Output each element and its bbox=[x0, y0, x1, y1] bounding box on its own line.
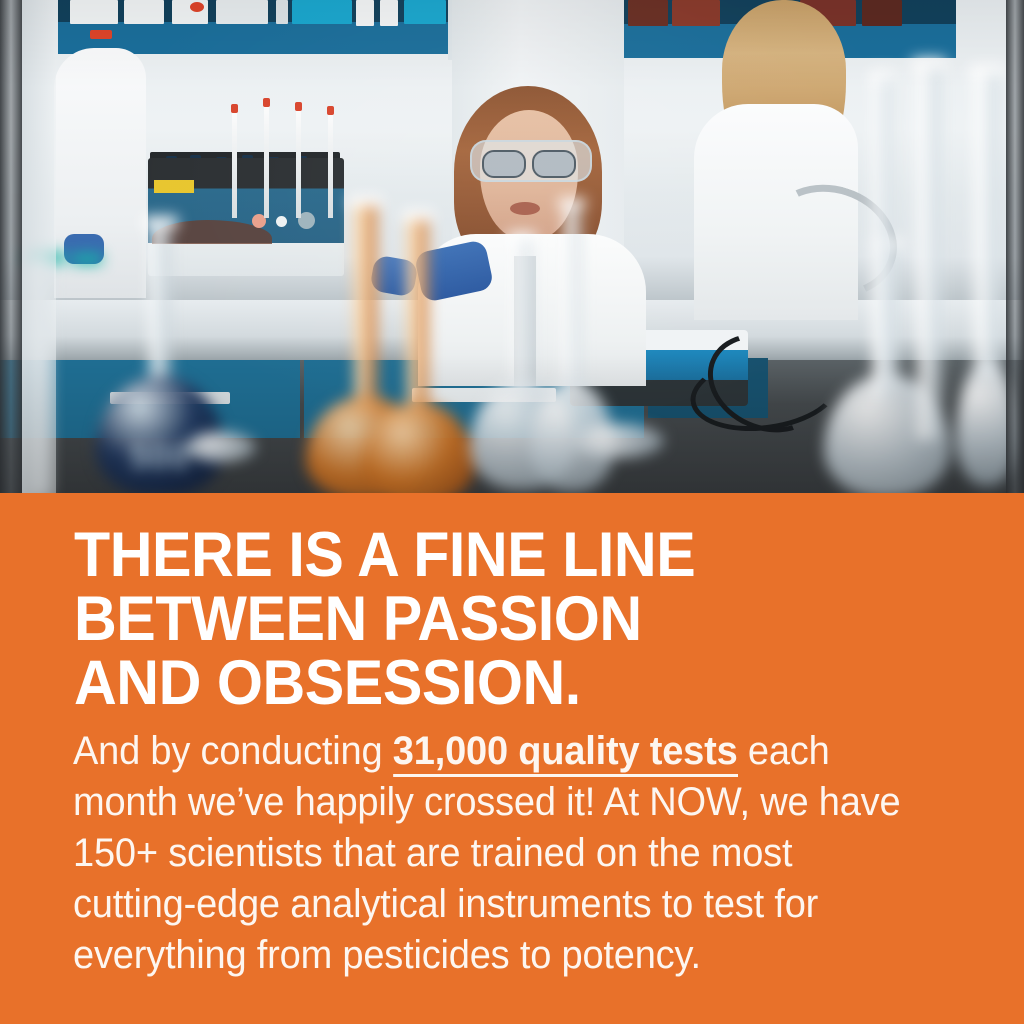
watch-glass bbox=[572, 420, 664, 460]
ad-creative: 500 bbox=[0, 0, 1024, 1024]
watch-glass bbox=[186, 430, 256, 464]
body-lead: And by conducting bbox=[73, 729, 393, 773]
body-emphasis: 31,000 quality tests bbox=[393, 729, 738, 777]
headline: THERE IS A FINE LINE BETWEEN PASSION AND… bbox=[74, 523, 901, 715]
doorframe-left bbox=[0, 0, 22, 493]
flask-volume-label: 500 bbox=[130, 438, 190, 477]
doorframe-right bbox=[1006, 0, 1024, 493]
foreground-flask-amber bbox=[362, 210, 474, 493]
foreground-flask-clear bbox=[900, 58, 958, 438]
lab-photo: 500 bbox=[0, 0, 1024, 493]
orange-message-panel: THERE IS A FINE LINE BETWEEN PASSION AND… bbox=[0, 493, 1024, 1024]
foreground-flask-clear bbox=[862, 70, 902, 400]
body-copy: And by conducting 31,000 quality tests e… bbox=[73, 726, 909, 981]
doorframe-glow bbox=[22, 0, 56, 493]
foreground-glassware-group: 500 bbox=[0, 0, 1024, 493]
